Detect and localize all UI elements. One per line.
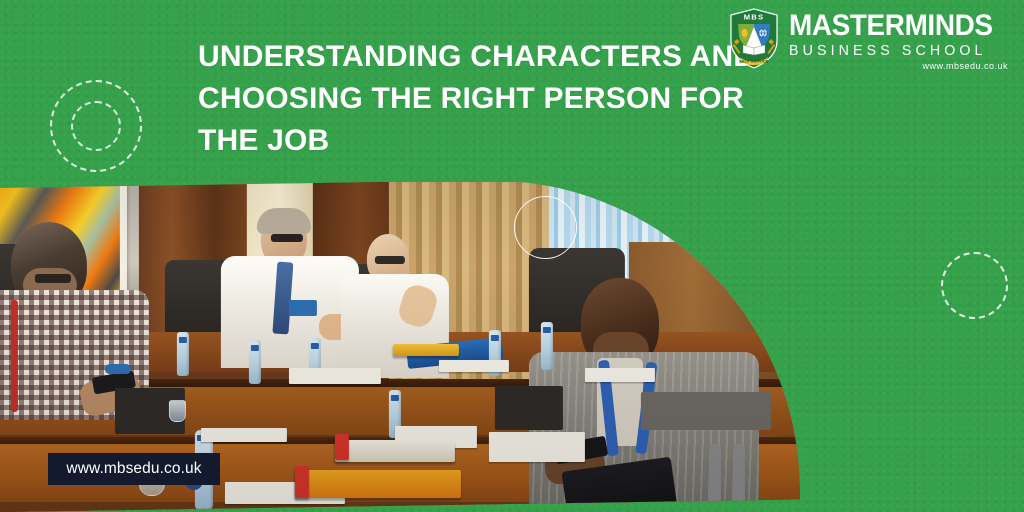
book-spine [335, 434, 349, 460]
brand-url: www.mbsedu.co.uk [922, 61, 1008, 72]
outline-circle-icon [514, 196, 577, 259]
brand-name: MASTERMINDS [789, 12, 993, 40]
eyeglasses [375, 256, 405, 264]
hair [257, 208, 311, 234]
brand-wordmark: MASTERMINDS BUSINESS SCHOOL www.mbsedu.c… [789, 8, 1008, 72]
brand-subtitle: BUSINESS SCHOOL [789, 42, 987, 60]
svg-text:MBS: MBS [744, 13, 764, 22]
paper [439, 360, 509, 372]
paper [489, 432, 585, 462]
dashed-circle-right-icon [941, 252, 1008, 319]
brand-logo: MBS SELF SERVICE MASTERMINDS BUSINESS SC… [728, 8, 1008, 78]
desk-monitor [495, 386, 563, 430]
desk-unit [641, 392, 771, 430]
book [335, 440, 455, 462]
wristband [105, 364, 131, 374]
website-url-badge: www.mbsedu.co.uk [48, 453, 220, 485]
book [393, 344, 459, 356]
water-bottle [541, 322, 553, 370]
mbs-crest-icon: MBS SELF SERVICE [728, 8, 780, 70]
marketing-banner: UNDERSTANDING CHARACTERS AND CHOOSING TH… [0, 0, 1024, 512]
svg-text:SELF SERVICE: SELF SERVICE [739, 59, 769, 63]
drinking-glass [169, 400, 186, 422]
eyeglasses [35, 274, 71, 283]
badge [289, 300, 317, 316]
lanyard [11, 300, 18, 412]
paper [201, 428, 287, 442]
dashed-circle-inner-left-icon [71, 101, 121, 151]
eyeglasses [271, 234, 303, 242]
water-bottle [177, 332, 189, 376]
water-bottle [249, 340, 261, 384]
paper [289, 368, 381, 384]
book-spine [295, 466, 309, 498]
website-url-text: www.mbsedu.co.uk [66, 460, 201, 478]
paper [585, 368, 655, 382]
book [295, 470, 461, 498]
headline-title: UNDERSTANDING CHARACTERS AND CHOOSING TH… [198, 36, 798, 162]
